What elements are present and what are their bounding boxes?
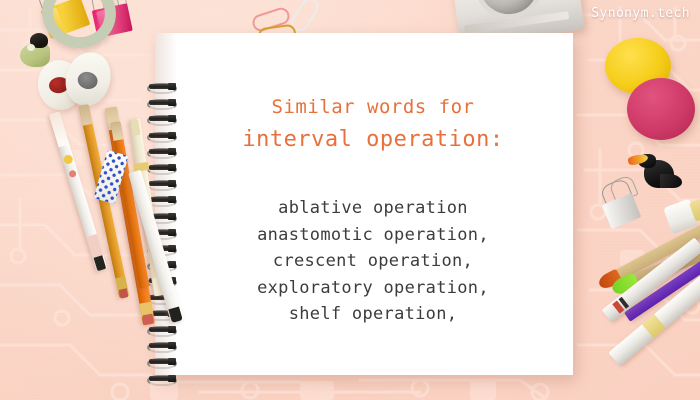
synonym-item: anastomotic operation, xyxy=(175,222,571,249)
site-watermark: Synonym.tech xyxy=(591,6,690,21)
synonym-item: crescent operation, xyxy=(175,248,571,275)
query-phrase: interval operation: xyxy=(175,127,571,152)
similar-words-label: Similar words for xyxy=(175,96,571,118)
toucan-figurine xyxy=(630,152,682,192)
synonym-item: exploratory operation, xyxy=(175,275,571,302)
eraser-bird-green xyxy=(18,33,52,67)
synonym-item: shelf operation, xyxy=(175,301,571,328)
page-gutter-shadow xyxy=(155,33,177,375)
card-content: Similar words for interval operation: ab… xyxy=(175,33,571,375)
macaron-pink xyxy=(627,78,695,140)
synonym-list: ablative operationanastomotic operation,… xyxy=(175,195,571,328)
synonym-item: ablative operation xyxy=(175,195,571,222)
screenshot-scene: Similar words for interval operation: ab… xyxy=(0,0,700,400)
